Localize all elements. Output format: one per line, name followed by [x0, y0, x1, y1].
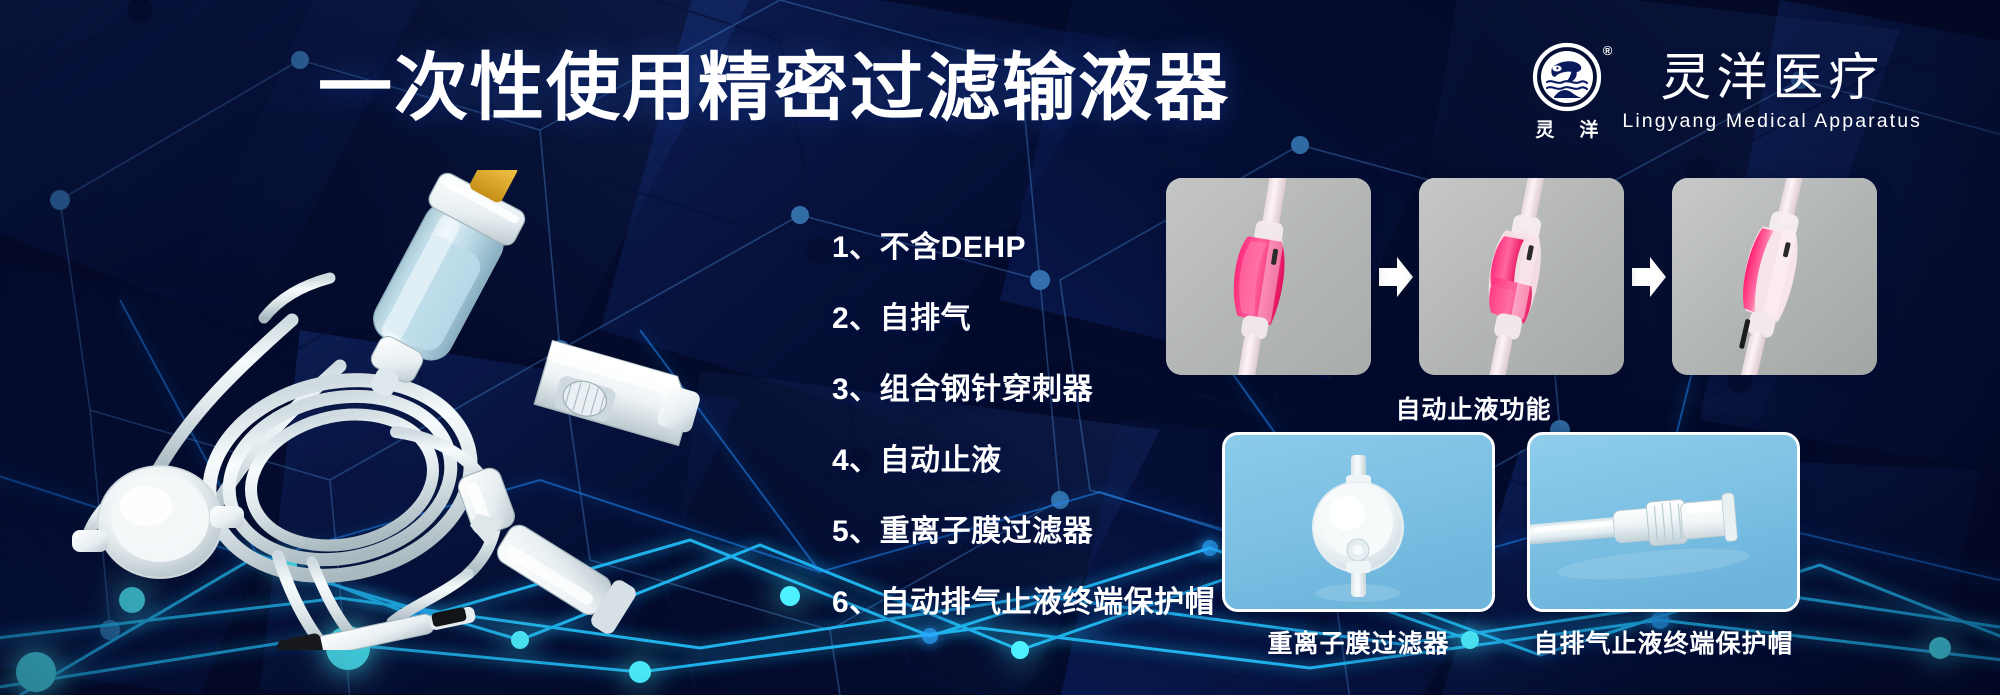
brand-name-group: 灵洋医疗 Lingyang Medical Apparatus [1622, 51, 1922, 132]
caption-heavy-ion-filter: 重离子膜过滤器 [1222, 624, 1495, 660]
logo-char-ling: 灵 [1535, 115, 1555, 142]
feature-item-2: 2、自排气 [832, 293, 1215, 337]
step-photo-3 [1672, 178, 1877, 375]
page-title: 一次性使用精密过滤输液器 [318, 48, 1230, 128]
photo-terminal-protection-cap [1527, 432, 1800, 612]
registered-trademark-icon: ® [1603, 44, 1613, 57]
step-photo-2 [1419, 178, 1624, 375]
caption-auto-stop-function: 自动止液功能 [1166, 390, 1781, 426]
bottom-caption-row: 重离子膜过滤器 自排气止液终端保护帽 [1222, 624, 1800, 660]
product-photo-infusion-set [40, 170, 780, 650]
right-arrow-icon [1375, 254, 1415, 300]
company-name-cn: 灵洋医疗 [1660, 51, 1884, 105]
lingyang-circle-emblem-icon: ® [1532, 42, 1602, 112]
bottom-photo-row [1222, 432, 1800, 612]
auto-stop-step-sequence [1166, 178, 1877, 375]
step-arrow-2 [1624, 254, 1672, 300]
caption-terminal-protection-cap: 自排气止液终端保护帽 [1527, 624, 1800, 660]
logo-emblem-characters: 灵 洋 [1535, 115, 1599, 142]
feature-list: 1、不含DEHP 2、自排气 3、组合钢针穿刺器 4、自动止液 5、重离子膜过滤… [832, 222, 1215, 621]
photo-heavy-ion-filter [1222, 432, 1495, 612]
feature-item-4: 4、自动止液 [832, 435, 1215, 479]
step-arrow-1 [1371, 254, 1419, 300]
feature-item-3: 3、组合钢针穿刺器 [832, 364, 1215, 408]
brand-logo: ® 灵 洋 灵洋医疗 Lingyang Medical Apparatus [1532, 42, 1922, 142]
company-name-en: Lingyang Medical Apparatus [1622, 110, 1922, 133]
logo-emblem-group: ® 灵 洋 [1532, 42, 1602, 142]
logo-char-yang: 洋 [1579, 115, 1599, 142]
step-photo-1 [1166, 178, 1371, 375]
feature-item-5: 5、重离子膜过滤器 [832, 506, 1215, 550]
feature-item-1: 1、不含DEHP [832, 222, 1215, 266]
right-arrow-icon [1628, 254, 1668, 300]
feature-item-6: 6、自动排气止液终端保护帽 [832, 577, 1215, 621]
product-banner: 一次性使用精密过滤输液器 [0, 0, 2000, 695]
